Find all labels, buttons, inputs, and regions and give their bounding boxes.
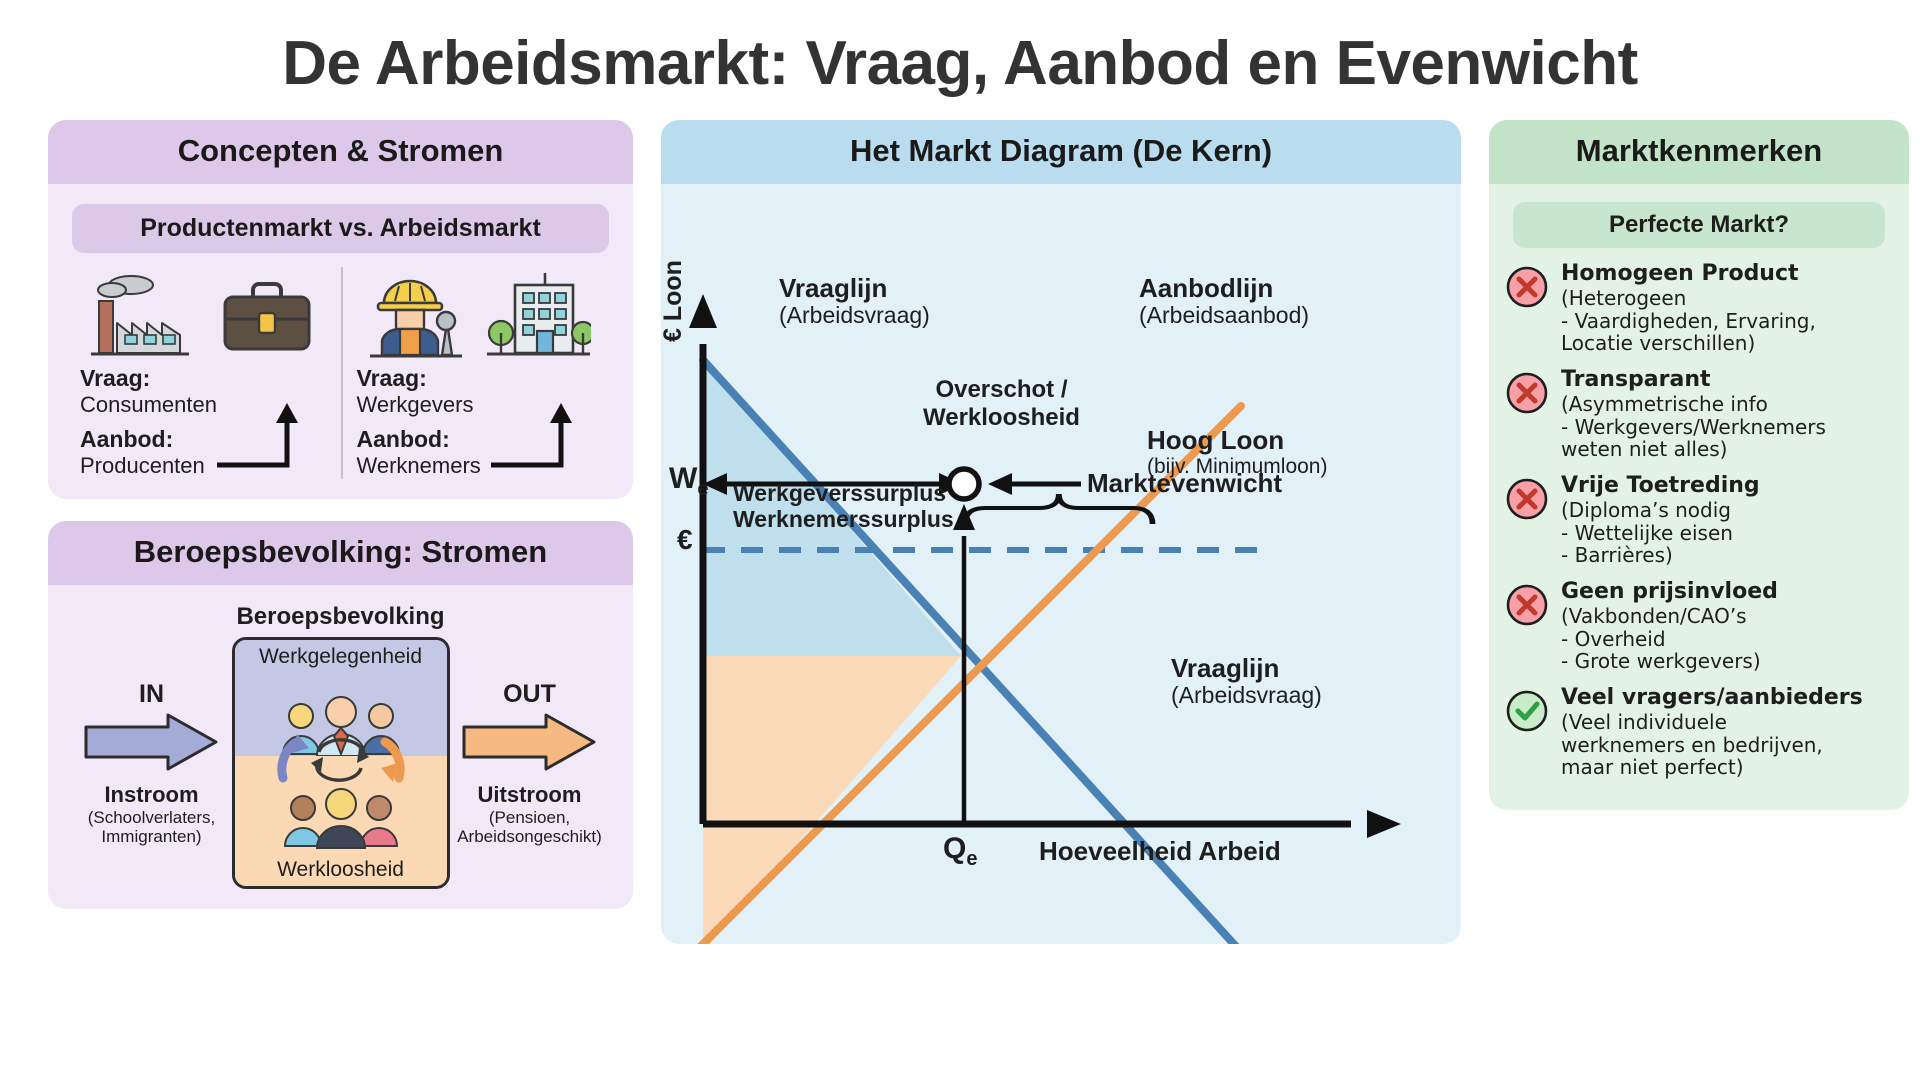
- feature-detail: (Vakbonden/CAO’s - Overheid - Grote werk…: [1561, 605, 1778, 673]
- euro-tick-label: €: [677, 524, 693, 556]
- y-axis-arrowhead: [689, 294, 717, 328]
- feature-detail: (Veel individuele werknemers en bedrijve…: [1561, 711, 1863, 779]
- equilibrium-label: Marktevenwicht: [1087, 468, 1282, 499]
- unemployed-people-icon: [235, 786, 447, 850]
- market-characteristics-card: Marktkenmerken Perfecte Markt? Homogeen …: [1489, 120, 1909, 810]
- market-comparison-subheader: Productenmarkt vs. Arbeidsmarkt: [72, 204, 609, 253]
- demand-label-lower: Vraaglijn (Arbeidsvraag): [1171, 654, 1322, 708]
- aanbod-to-briefcase-arrow: [213, 403, 321, 477]
- feature-detail: (Asymmetrische info - Werkgevers/Werknem…: [1561, 393, 1826, 461]
- surplus-label: Overschot / Werkloosheid: [923, 376, 1080, 431]
- cross-circle-icon: [1505, 265, 1549, 309]
- equilibrium-point: [949, 469, 979, 499]
- worker-icon: [366, 271, 466, 359]
- market-diagram-card: Het Markt Diagram (De Kern): [661, 120, 1461, 944]
- feature-text: Homogeen Product (Heterogeen - Vaardighe…: [1561, 262, 1816, 355]
- we-tick-label: We: [669, 462, 708, 501]
- cross-circle-icon: [1505, 583, 1549, 627]
- check-circle-icon: [1505, 689, 1549, 733]
- unemployment-section: Werkloosheid: [235, 756, 447, 886]
- middle-column: Het Markt Diagram (De Kern): [661, 120, 1461, 944]
- supply-demand-chart: € Loon € We Qe Hoeveelheid Arbeid Vraagl…: [661, 184, 1461, 944]
- feature-title: Homogeen Product: [1561, 262, 1816, 287]
- page-title: De Arbeidsmarkt: Vraag, Aanbod en Evenwi…: [48, 0, 1872, 98]
- x-axis-title: Hoeveelheid Arbeid: [1039, 836, 1281, 867]
- market-diagram-body: € Loon € We Qe Hoeveelheid Arbeid Vraagl…: [661, 184, 1461, 944]
- inflow-group: IN Instroom (Schoolverlaters, Immigrante…: [76, 680, 228, 846]
- product-market-panel: Vraag: Consumenten Aanbod: Producenten: [66, 267, 341, 479]
- feature-item: Vrije Toetreding (Diploma’s nodig - Wett…: [1505, 474, 1893, 567]
- labour-force-flows-header: Beroepsbevolking: Stromen: [48, 521, 633, 585]
- circulation-arrows-icon: [235, 730, 447, 790]
- market-characteristics-body: Perfecte Markt? Homogeen Product (Hetero…: [1489, 184, 1909, 810]
- feature-text: Veel vragers/aanbieders (Veel individuel…: [1561, 686, 1863, 779]
- product-vraag-label: Vraag:: [80, 365, 150, 391]
- producer-surplus-label: Werkgeverssurplus: [733, 480, 946, 507]
- feature-title: Geen prijsinvloed: [1561, 580, 1778, 605]
- labour-force-flows-card: Beroepsbevolking: Stromen Beroepsbevolki…: [48, 521, 633, 909]
- left-column: Concepten & Stromen Productenmarkt vs. A…: [48, 120, 633, 909]
- concepts-card-body: Productenmarkt vs. Arbeidsmarkt: [48, 184, 633, 499]
- concepts-card: Concepten & Stromen Productenmarkt vs. A…: [48, 120, 633, 499]
- labour-market-icons: [357, 267, 602, 359]
- inflow-sub: (Schoolverlaters, Immigranten): [76, 808, 228, 846]
- market-comparison-split: Vraag: Consumenten Aanbod: Producenten: [66, 267, 615, 479]
- market-diagram-header: Het Markt Diagram (De Kern): [661, 120, 1461, 184]
- aanbod-to-office-arrow: [487, 403, 595, 477]
- office-building-icon: [485, 271, 591, 359]
- x-axis-arrowhead: [1367, 810, 1401, 838]
- product-aanbod-label: Aanbod:: [80, 426, 173, 452]
- feature-title: Transparant: [1561, 368, 1826, 393]
- feature-detail: (Heterogeen - Vaardigheden, Ervaring, Lo…: [1561, 287, 1816, 355]
- qe-tick-label: Qe: [943, 832, 977, 871]
- labour-force-flows-body: Beroepsbevolking IN Instroom (Schoolverl…: [48, 585, 633, 909]
- columns-container: Concepten & Stromen Productenmarkt vs. A…: [48, 120, 1872, 944]
- perfect-market-subheader: Perfecte Markt?: [1513, 202, 1885, 248]
- briefcase-icon: [217, 275, 317, 359]
- labour-vraag-label: Vraag:: [357, 365, 427, 391]
- cross-circle-icon: [1505, 477, 1549, 521]
- feature-item: Veel vragers/aanbieders (Veel individuel…: [1505, 686, 1893, 779]
- unemployment-label: Werkloosheid: [235, 858, 447, 882]
- right-column: Marktkenmerken Perfecte Markt? Homogeen …: [1489, 120, 1909, 810]
- labour-market-definitions: Vraag: Werkgevers Aanbod: Werknemers: [357, 365, 602, 479]
- equilibrium-callout-arrowhead: [988, 473, 1012, 495]
- feature-title: Veel vragers/aanbieders: [1561, 686, 1863, 711]
- feature-detail: (Diploma’s nodig - Wettelijke eisen - Ba…: [1561, 499, 1760, 567]
- market-characteristics-header: Marktkenmerken: [1489, 120, 1909, 184]
- feature-item: Homogeen Product (Heterogeen - Vaardighe…: [1505, 262, 1893, 355]
- feature-text: Vrije Toetreding (Diploma’s nodig - Wett…: [1561, 474, 1760, 567]
- outflow-group: OUT Uitstroom (Pensioen, Arbeidsongeschi…: [454, 680, 606, 846]
- concepts-card-header: Concepten & Stromen: [48, 120, 633, 184]
- labour-force-box-title: Beroepsbevolking: [66, 603, 615, 631]
- supply-label: Aanbodlijn (Arbeidsaanbod): [1139, 274, 1309, 328]
- flows-row: IN Instroom (Schoolverlaters, Immigrante…: [66, 637, 615, 889]
- employment-label: Werkgelegenheid: [235, 640, 447, 669]
- cross-circle-icon: [1505, 371, 1549, 415]
- infographic-page: De Arbeidsmarkt: Vraag, Aanbod en Evenwi…: [0, 0, 1920, 1072]
- inflow-cap: IN: [76, 680, 228, 709]
- labour-aanbod-label: Aanbod:: [357, 426, 450, 452]
- outflow-name: Uitstroom: [454, 782, 606, 808]
- outflow-arrow-icon: [460, 711, 600, 773]
- factory-icon: [89, 271, 199, 359]
- inflow-name: Instroom: [76, 782, 228, 808]
- labour-market-panel: Vraag: Werkgevers Aanbod: Werknemers: [341, 267, 616, 479]
- feature-text: Transparant (Asymmetrische info - Werkge…: [1561, 368, 1826, 461]
- labour-force-box: Werkgelegenheid: [232, 637, 450, 889]
- y-axis-title: € Loon: [661, 260, 688, 342]
- worker-surplus-label: Werknemerssurplus: [733, 506, 954, 533]
- feature-text: Geen prijsinvloed (Vakbonden/CAO’s - Ove…: [1561, 580, 1778, 673]
- feature-item: Geen prijsinvloed (Vakbonden/CAO’s - Ove…: [1505, 580, 1893, 673]
- product-market-icons: [80, 267, 327, 359]
- demand-label-upper: Vraaglijn (Arbeidsvraag): [779, 274, 930, 328]
- feature-title: Vrije Toetreding: [1561, 474, 1760, 499]
- inflow-arrow-icon: [82, 711, 222, 773]
- feature-item: Transparant (Asymmetrische info - Werkge…: [1505, 368, 1893, 461]
- product-market-definitions: Vraag: Consumenten Aanbod: Producenten: [80, 365, 327, 479]
- outflow-cap: OUT: [454, 680, 606, 709]
- outflow-sub: (Pensioen, Arbeidsongeschikt): [454, 808, 606, 846]
